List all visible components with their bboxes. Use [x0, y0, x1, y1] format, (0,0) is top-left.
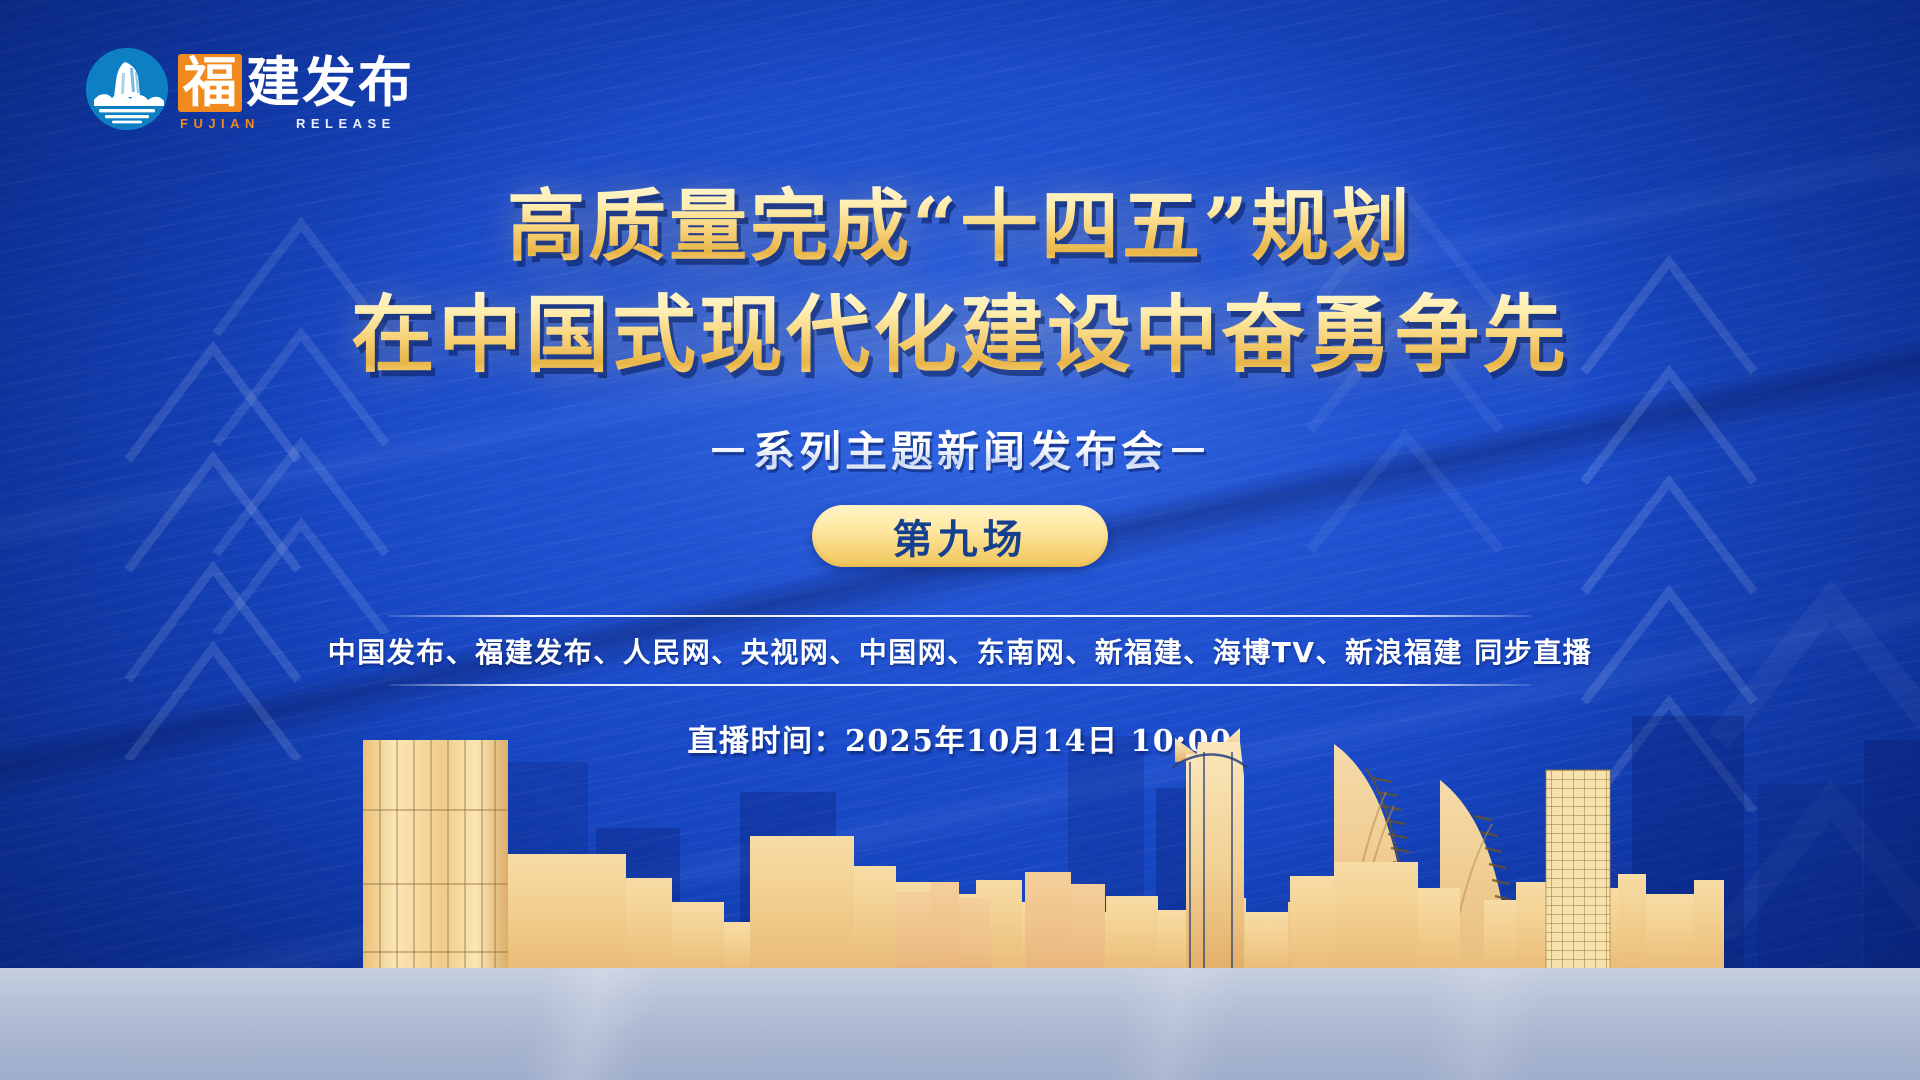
page-title-line-2: 在中国式现代化建设中奋勇争先: [0, 286, 1920, 383]
building-cluster-right: [1290, 862, 1724, 976]
page-subtitle: －系列主题新闻发布会－: [0, 418, 1920, 479]
poster-content: 高质量完成“十四五”规划 在中国式现代化建设中奋勇争先 －系列主题新闻发布会－ …: [0, 0, 1920, 760]
building-grid-tower: [1546, 770, 1610, 976]
ground-plane: [0, 968, 1920, 1080]
building-left-slab: [363, 740, 508, 976]
media-partners-line: 中国发布、福建发布、人民网、央视网、中国网、东南网、新福建、海博TV、新浪福建 …: [328, 617, 1593, 684]
media-block: 中国发布、福建发布、人民网、央视网、中国网、东南网、新福建、海博TV、新浪福建 …: [0, 615, 1920, 686]
divider-bottom: [389, 684, 1531, 686]
session-badge: 第九场: [812, 505, 1108, 567]
city-skyline: [0, 716, 1920, 976]
page-title-line-1: 高质量完成“十四五”规划: [0, 182, 1920, 272]
session-badge-wrapper: 第九场: [0, 505, 1920, 567]
poster-canvas: 福 建发布 FUJIAN RELEASE 高质量完成“十四五”规划 在中国式现代…: [0, 0, 1920, 1080]
